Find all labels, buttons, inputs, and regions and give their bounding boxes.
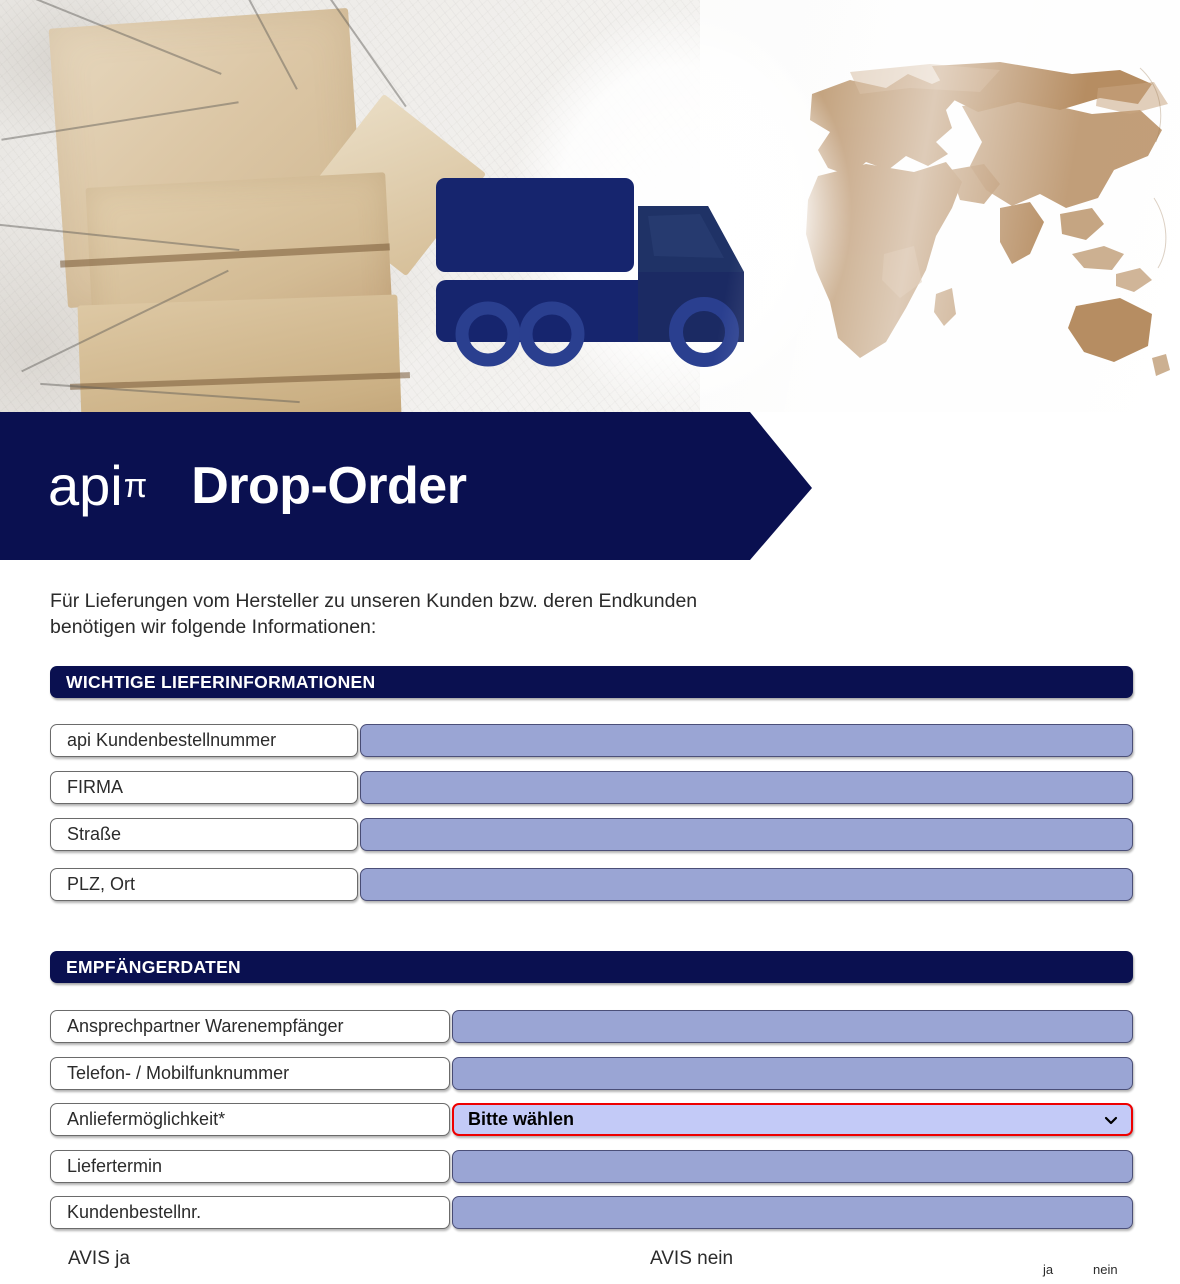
- avis-ja-option-label[interactable]: ja: [1043, 1262, 1053, 1277]
- field-row-kundenbestellnr: Kundenbestellnr.: [50, 1196, 1133, 1229]
- field-label: FIRMA: [50, 771, 358, 804]
- page-title: Drop-Order: [191, 456, 466, 516]
- field-input-strasse[interactable]: [360, 818, 1133, 851]
- intro-text: Für Lieferungen vom Hersteller zu unsere…: [50, 588, 930, 641]
- field-input-plz-ort[interactable]: [360, 868, 1133, 901]
- field-row-api-kundenbestellnummer: api Kundenbestellnummer: [50, 724, 1133, 757]
- field-label: Ansprechpartner Warenempfänger: [50, 1010, 450, 1043]
- field-input-telefon[interactable]: [452, 1057, 1133, 1090]
- intro-line-2: benötigen wir folgende Informationen:: [50, 614, 930, 640]
- intro-line-1: Für Lieferungen vom Hersteller zu unsere…: [50, 588, 930, 614]
- select-value: Bitte wählen: [468, 1109, 574, 1130]
- field-row-plz-ort: PLZ, Ort: [50, 868, 1133, 901]
- field-row-anliefermoeglichkeit: Anliefermöglichkeit* Bitte wählen: [50, 1103, 1133, 1136]
- field-row-liefertermin: Liefertermin: [50, 1150, 1133, 1183]
- field-label: api Kundenbestellnummer: [50, 724, 358, 757]
- field-label: Liefertermin: [50, 1150, 450, 1183]
- field-row-ansprechpartner: Ansprechpartner Warenempfänger: [50, 1010, 1133, 1043]
- hero-diagonal-sheen: [0, 0, 1180, 412]
- section-header-empfaengerdaten: EMPFÄNGERDATEN: [50, 951, 1133, 983]
- field-input-kundenbestellnr[interactable]: [452, 1196, 1133, 1229]
- chevron-down-icon[interactable]: [1103, 1112, 1119, 1128]
- field-label: Straße: [50, 818, 358, 851]
- field-input-api-kundenbestellnummer[interactable]: [360, 724, 1133, 757]
- field-label: Kundenbestellnr.: [50, 1196, 450, 1229]
- field-select-anliefermoeglichkeit[interactable]: Bitte wählen: [452, 1103, 1133, 1136]
- hero-banner: [0, 0, 1180, 412]
- field-label: PLZ, Ort: [50, 868, 358, 901]
- title-banner: apiπ Drop-Order: [0, 412, 812, 560]
- field-label: Telefon- / Mobilfunknummer: [50, 1057, 450, 1090]
- avis-nein-option-label[interactable]: nein: [1093, 1262, 1118, 1277]
- section-header-lieferinformationen: WICHTIGE LIEFERINFORMATIONEN: [50, 666, 1133, 698]
- avis-nein-label: AVIS nein: [650, 1248, 733, 1270]
- field-input-firma[interactable]: [360, 771, 1133, 804]
- field-label: Anliefermöglichkeit*: [50, 1103, 450, 1136]
- field-row-telefon: Telefon- / Mobilfunknummer: [50, 1057, 1133, 1090]
- field-row-firma: FIRMA: [50, 771, 1133, 804]
- field-input-liefertermin[interactable]: [452, 1150, 1133, 1183]
- avis-ja-label: AVIS ja: [68, 1248, 130, 1270]
- drop-order-form-page: apiπ Drop-Order Für Lieferungen vom Hers…: [0, 0, 1180, 1284]
- brand-logo-text: api: [48, 458, 123, 514]
- field-input-ansprechpartner[interactable]: [452, 1010, 1133, 1043]
- field-row-strasse: Straße: [50, 818, 1133, 851]
- brand-logo-subscript: π: [124, 467, 147, 506]
